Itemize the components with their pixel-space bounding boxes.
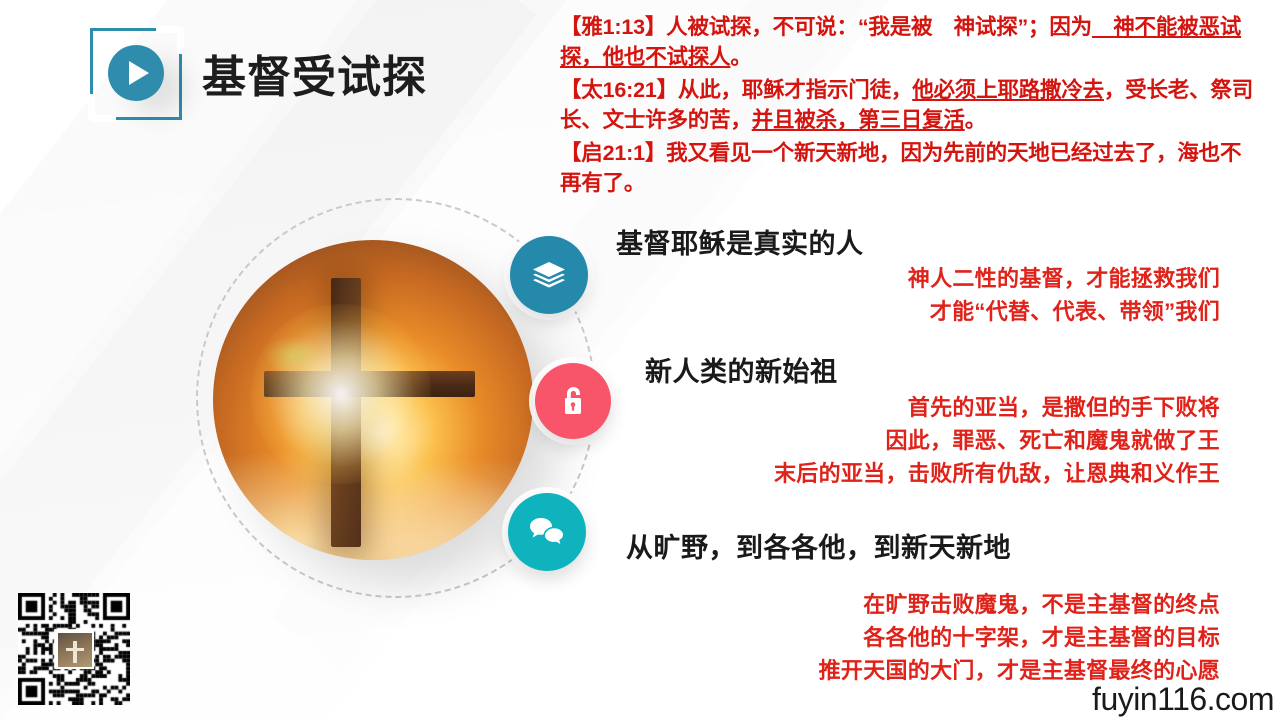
section-heading-1: 基督耶稣是真实的人 [616, 222, 864, 261]
qr-center-cross-thumbnail [56, 631, 94, 669]
section-line: 神人二性的基督，才能拯救我们 [520, 262, 1220, 295]
section-icon-badge-3 [508, 493, 586, 571]
scripture-ref: 【太16:21】 [560, 78, 678, 102]
scripture-text: 从此，耶稣才指示门徒， [678, 78, 912, 102]
section-line: 末后的亚当，击败所有仇敌，让恩典和义作王 [520, 457, 1220, 490]
section-line: 才能“代替、代表、带领”我们 [520, 295, 1220, 328]
section-heading-3: 从旷野，到各各他，到新天新地 [626, 526, 1011, 565]
scripture-verse-3: 【启21:1】我又看见一个新天新地，因为先前的天地已经过去了，海也不再有了。 [560, 138, 1260, 198]
section-line: 首先的亚当，是撒但的手下败将 [520, 391, 1220, 424]
scripture-block: 【雅1:13】人被试探，不可说：“我是被 神试探”；因为 神不能被恶试探，他也不… [560, 12, 1260, 201]
page-title: 基督受试探 [202, 41, 427, 105]
logo [90, 28, 182, 120]
scripture-text-underlined-2: 并且被杀，第三日复活 [752, 108, 965, 132]
section-lines-3: 在旷野击败魔鬼，不是主基督的终点 各各他的十字架，才是主基督的目标 推开天国的大… [500, 588, 1220, 687]
scripture-ref: 【启21:1】 [560, 141, 666, 165]
presentation-slide: 基督受试探 【雅1:13】人被试探，不可说：“我是被 神试探”；因为 神不能被恶… [0, 0, 1280, 720]
section-lines-1: 神人二性的基督，才能拯救我们 才能“代替、代表、带领”我们 [520, 262, 1220, 328]
scripture-text-tail: 。 [965, 108, 986, 132]
play-button-icon [108, 45, 164, 101]
scripture-verse-1: 【雅1:13】人被试探，不可说：“我是被 神试探”；因为 神不能被恶试探，他也不… [560, 12, 1260, 72]
chat-bubbles-icon [528, 516, 566, 548]
scripture-verse-2: 【太16:21】从此，耶稣才指示门徒，他必须上耶路撒冷去，受长老、祭司长、文士许… [560, 75, 1260, 135]
section-line: 各各他的十字架，才是主基督的目标 [500, 621, 1220, 654]
scripture-text: 人被试探，不可说：“我是被 神试探”；因为 [666, 15, 1092, 39]
section-lines-2: 首先的亚当，是撒但的手下败将 因此，罪恶、死亡和魔鬼就做了王 末后的亚当，击败所… [520, 391, 1220, 490]
qr-code [18, 593, 130, 705]
scripture-text-underlined: 他必须上耶路撒冷去 [912, 78, 1104, 102]
section-heading-2: 新人类的新始祖 [645, 350, 838, 389]
section-line: 因此，罪恶、死亡和魔鬼就做了王 [520, 424, 1220, 457]
scripture-text-tail: 。 [730, 45, 751, 69]
section-line: 在旷野击败魔鬼，不是主基督的终点 [500, 588, 1220, 621]
scripture-ref: 【雅1:13】 [560, 15, 666, 39]
hero-image-cross [213, 240, 533, 560]
site-watermark: fuyin116.com [1092, 681, 1274, 718]
